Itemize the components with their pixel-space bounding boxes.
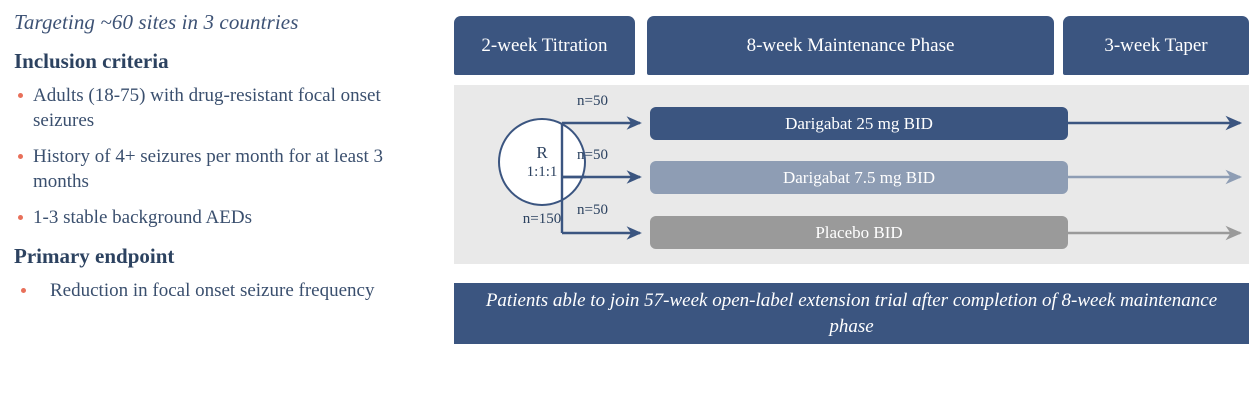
arm-n-label: n=50: [577, 202, 608, 219]
diagram-panel: R 1:1:1 n=150: [454, 85, 1249, 264]
phase-header-taper: 3-week Taper: [1063, 16, 1249, 75]
phase-header-maintenance: 8-week Maintenance Phase: [647, 16, 1054, 75]
treatment-arm-bar: Placebo BID: [650, 216, 1068, 249]
phase-header-titration: 2-week Titration: [454, 16, 635, 75]
trial-design-diagram: 2-week Titration 8-week Maintenance Phas…: [452, 0, 1251, 403]
list-item: Reduction in focal onset seizure frequen…: [14, 278, 438, 303]
primary-endpoint-heading: Primary endpoint: [14, 243, 438, 269]
targeting-sites-line: Targeting ~60 sites in 3 countries: [14, 8, 438, 36]
open-label-extension-banner: Patients able to join 57-week open-label…: [454, 283, 1249, 344]
list-item: Adults (18-75) with drug-resistant focal…: [14, 83, 438, 133]
bullet-dot-icon: [18, 154, 23, 159]
list-item-label: Reduction in focal onset seizure frequen…: [50, 280, 374, 301]
treatment-arm-bar: Darigabat 7.5 mg BID: [650, 161, 1068, 194]
list-item-label: History of 4+ seizures per month for at …: [33, 146, 383, 192]
list-item: 1-3 stable background AEDs: [14, 205, 438, 230]
arm-n-label: n=50: [577, 93, 608, 110]
list-item-label: Adults (18-75) with drug-resistant focal…: [33, 85, 381, 131]
arm-n-label: n=50: [577, 147, 608, 164]
list-item-label: 1-3 stable background AEDs: [33, 207, 252, 228]
bullet-dot-icon: [21, 288, 26, 293]
inclusion-criteria-list: Adults (18-75) with drug-resistant focal…: [14, 83, 438, 230]
left-info-column: Targeting ~60 sites in 3 countries Inclu…: [0, 0, 452, 403]
bullet-dot-icon: [18, 215, 23, 220]
list-item: History of 4+ seizures per month for at …: [14, 144, 438, 194]
bullet-dot-icon: [18, 93, 23, 98]
treatment-arm-bar: Darigabat 25 mg BID: [650, 107, 1068, 140]
primary-endpoint-list: Reduction in focal onset seizure frequen…: [14, 278, 438, 303]
inclusion-criteria-heading: Inclusion criteria: [14, 48, 438, 74]
